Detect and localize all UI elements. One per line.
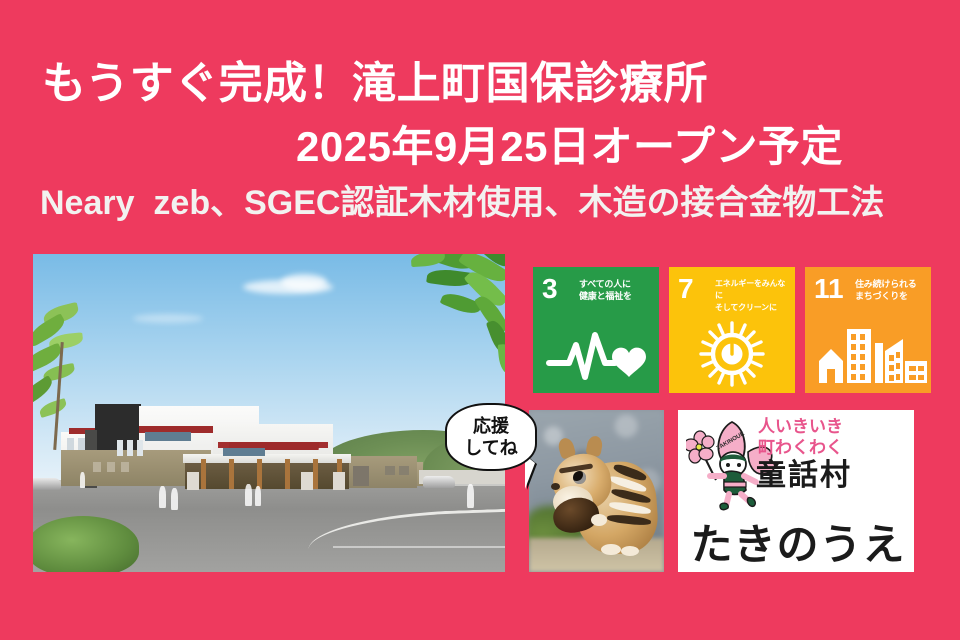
takinoue-town-logo: TAKINOUE 人いきいき 町わくわく 童話村 たきのうえ (678, 410, 914, 572)
window (137, 440, 143, 456)
logo-catch-line-1: 人いきいき (758, 416, 906, 437)
sdg-label-line-2: そしてクリーンに (715, 302, 789, 314)
side-entrance-door (353, 466, 369, 486)
city-buildings-icon (805, 321, 931, 387)
headline-line-1: もうすぐ完成！滝上町国保診療所 (42, 58, 708, 110)
cloud (133, 314, 203, 323)
entrance-recess (185, 463, 349, 489)
entrance-pillar (313, 459, 318, 489)
person-silhouette (80, 472, 85, 488)
sdg-number: 3 (542, 276, 558, 302)
parked-car (423, 476, 455, 488)
sdg-number: 11 (814, 276, 844, 302)
window (107, 462, 115, 472)
chipmunk-paw (621, 546, 639, 556)
headline-line-2: 2025年9月25日オープン予定 (296, 122, 843, 172)
window (399, 466, 409, 475)
entrance-pillar (229, 459, 234, 489)
sdg-label: すべての人に 健康と福祉を (579, 278, 653, 302)
chipmunk-photo (529, 410, 664, 572)
speech-bubble: 応援 してね (445, 403, 537, 471)
parked-car (33, 478, 61, 490)
logo-catchphrase: 人いきいき 町わくわく (758, 416, 906, 458)
speech-bubble-line-1: 応援 (473, 415, 509, 437)
entrance-pillar (257, 459, 262, 489)
window (127, 440, 133, 456)
window (145, 432, 191, 441)
sdg-label-line-1: すべての人に (579, 278, 653, 290)
sdg-label-line-2: まちづくりを (855, 290, 929, 302)
logo-town-name: たきのうえ (686, 522, 910, 568)
chipmunk-eye (573, 471, 586, 484)
foreground-tree-right (331, 254, 505, 398)
entrance-pillar (285, 459, 290, 489)
person-silhouette (245, 484, 252, 506)
foreground-tree-left (33, 306, 111, 456)
chipmunk-nose (551, 483, 560, 490)
window (121, 462, 129, 472)
heartbeat-icon (533, 321, 659, 387)
pillar-base (301, 472, 313, 490)
sdg-label-line-1: エネルギーをみんなに (715, 278, 789, 302)
sdg-goal-3: 3 すべての人に 健康と福祉を (533, 267, 659, 393)
window (223, 448, 265, 456)
person-silhouette (255, 486, 261, 506)
window (93, 462, 101, 472)
foreground-bush (33, 516, 139, 572)
sdg-goal-7: 7 エネルギーをみんなに そしてクリーンに (669, 267, 795, 393)
speech-bubble-line-2: してね (464, 437, 517, 459)
person-silhouette (159, 486, 166, 508)
road-marking (333, 546, 505, 548)
entrance-canopy (183, 454, 351, 463)
pillar-base (333, 472, 345, 490)
sdg-number: 7 (678, 276, 694, 302)
person-silhouette (171, 488, 178, 510)
sdg-label-line-1: 住み続けられる (855, 278, 929, 290)
chipmunk-paw (591, 514, 607, 526)
sdg-label-line-2: 健康と福祉を (579, 290, 653, 302)
person-silhouette (467, 484, 474, 508)
sdg-icon-group: 3 すべての人に 健康と福祉を 7 エネルギーをみんなに そしてクリーンに (533, 267, 931, 393)
sun-power-icon (669, 321, 795, 387)
chipmunk-paw (601, 544, 621, 555)
sdg-goal-11: 11 住み続けられる まちづくりを (805, 267, 931, 393)
logo-midline: 童話村 (756, 460, 906, 492)
cloud (281, 274, 327, 290)
logo-catch-line-2: 町わくわく (758, 437, 906, 458)
entrance-pillar (201, 459, 206, 489)
window (385, 466, 395, 475)
sdg-label: エネルギーをみんなに そしてクリーンに (715, 278, 789, 314)
sdg-label: 住み続けられる まちづくりを (855, 278, 929, 302)
clinic-render-photo (33, 254, 505, 572)
pillar-base (187, 472, 199, 490)
headline-line-3: Neary zeb、SGEC認証木材使用、木造の接合金物工法 (40, 182, 884, 224)
poster-canvas: もうすぐ完成！滝上町国保診療所 2025年9月25日オープン予定 Neary z… (0, 0, 960, 640)
window (117, 440, 123, 456)
